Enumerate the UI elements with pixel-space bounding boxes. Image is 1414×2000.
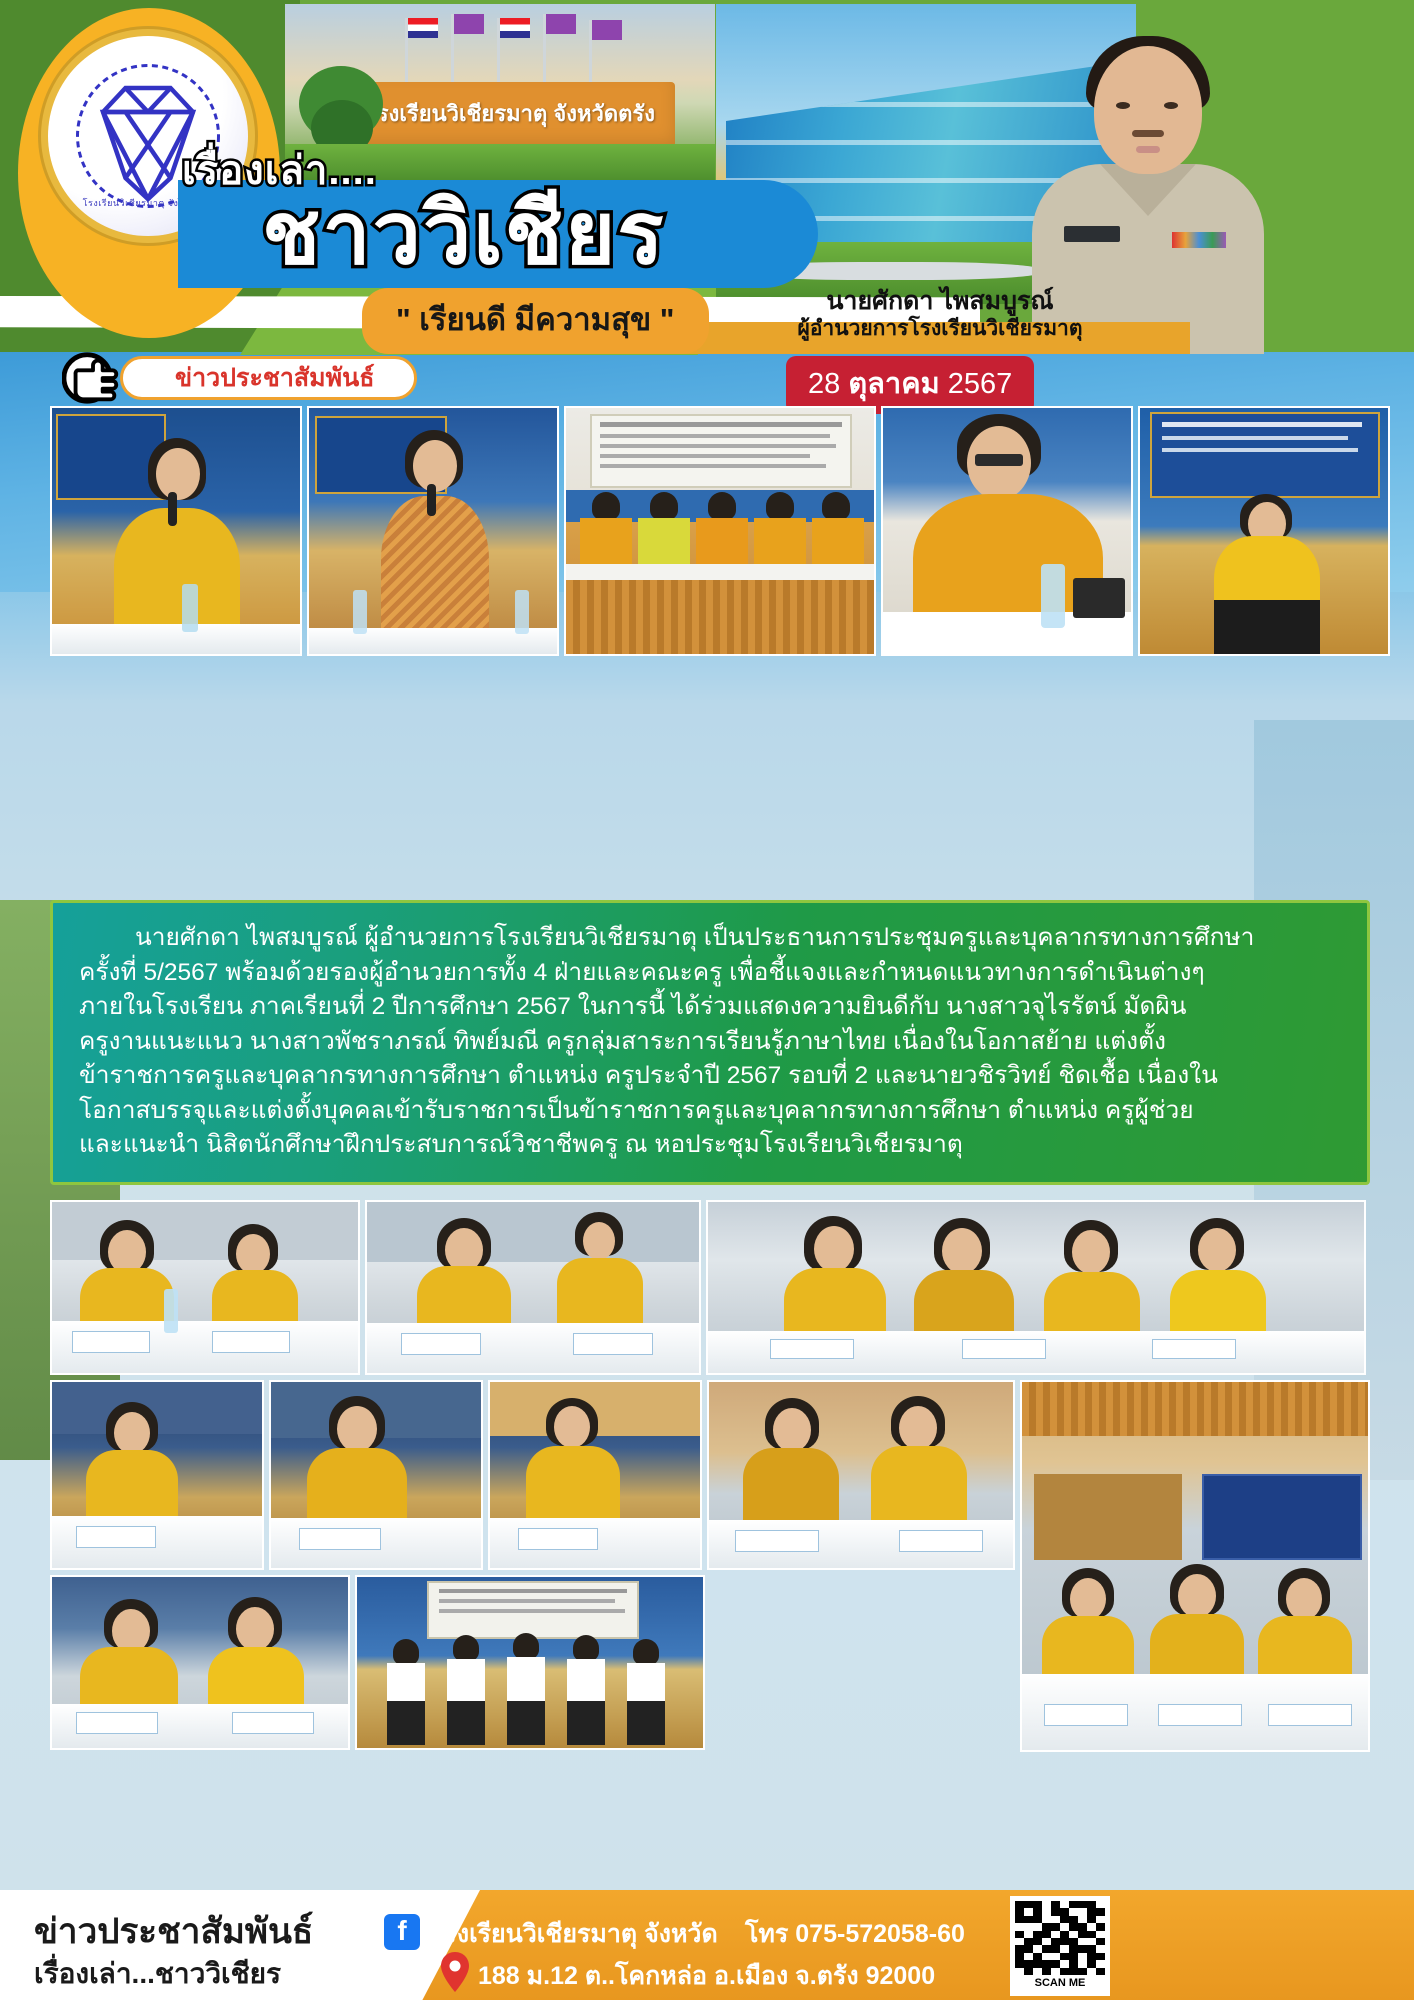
- photo-teachers-seated-5[interactable]: [269, 1380, 483, 1570]
- photo-teachers-seated-2[interactable]: [365, 1200, 701, 1375]
- footer-title: ข่าวประชาสัมพันธ์: [34, 1904, 313, 1959]
- photo-speaker-woman-2[interactable]: [307, 406, 559, 656]
- body-line-3: ภายในโรงเรียน ภาคเรียนที่ 2 ปีการศึกษา 2…: [79, 990, 1341, 1025]
- announcement-row: ข่าวประชาสัมพันธ์ 28 ตุลาคม 2567: [0, 352, 1414, 404]
- footer-phone: โทร 075-572058-60: [745, 1914, 965, 1954]
- news-body-text: นายศักดา ไพสมบูรณ์ ผู้อำนวยการโรงเรียนวิ…: [50, 900, 1370, 1185]
- gallery-row-mid-1: [50, 1200, 1366, 1375]
- photo-teacher-microphone[interactable]: [1138, 406, 1390, 656]
- announcement-label: ข่าวประชาสัมพันธ์: [175, 358, 374, 398]
- date-month: ตุลาคม: [848, 368, 939, 400]
- body-line-2: ครั้งที่ 5/2567 พร้อมด้วยรองผู้อำนวยการท…: [79, 956, 1341, 991]
- qr-code-pattern: [1015, 1901, 1105, 1975]
- location-pin-icon: [440, 1952, 470, 1992]
- photo-teachers-seated-4[interactable]: [50, 1380, 264, 1570]
- gallery-row-top: [50, 406, 1390, 656]
- title-main-heading: ชาววิเชียร: [262, 186, 666, 282]
- director-ribbon-bar: [1172, 232, 1226, 248]
- photo-student-teachers-group[interactable]: [355, 1575, 705, 1750]
- footer-subtitle: เรื่องเล่า...ชาววิเชียร: [34, 1952, 281, 1996]
- body-line-6: โอกาสบรรจุและแต่งตั้งบุคคลเข้ารับราชการเ…: [79, 1094, 1341, 1129]
- pointing-hand-icon: [62, 352, 124, 404]
- body-line-1: นายศักดา ไพสมบูรณ์ ผู้อำนวยการโรงเรียนวิ…: [79, 921, 1341, 956]
- school-sign-wall: โรงเรียนวิเชียรมาตุ จังหวัดตรัง: [345, 82, 675, 150]
- photo-audience-hall[interactable]: [1020, 1380, 1370, 1752]
- footer-address: 188 ม.12 ต..โคกหล่อ อ.เมือง จ.ตรัง 92000: [478, 1956, 935, 1996]
- photo-teachers-seated-8[interactable]: [50, 1575, 350, 1750]
- poster-root: โรงเรียนวิเชียรมาตุ จังหวัดตรัง: [0, 0, 1414, 2000]
- photo-teachers-seated-1[interactable]: [50, 1200, 360, 1375]
- poster-footer: ข่าวประชาสัมพันธ์ เรื่องเล่า...ชาววิเชีย…: [0, 1890, 1414, 2000]
- photo-teachers-seated-7[interactable]: [707, 1380, 1015, 1570]
- gallery-row-mid-3: [50, 1575, 705, 1750]
- announcement-pill: ข่าวประชาสัมพันธ์: [120, 356, 417, 400]
- photo-head-table-panel[interactable]: [564, 406, 876, 656]
- director-face: [1094, 46, 1202, 174]
- qr-code[interactable]: SCAN ME: [1010, 1896, 1110, 1996]
- director-nametag: [1064, 226, 1120, 242]
- photo-director-speaking[interactable]: [881, 406, 1133, 656]
- body-line-4: ครูงานแนะแนว นางสาวพัชราภรณ์ ทิพย์มณี คร…: [79, 1025, 1341, 1060]
- facebook-icon[interactable]: f: [384, 1914, 420, 1950]
- poster-header: โรงเรียนวิเชียรมาตุ จังหวัดตรัง: [0, 0, 1414, 352]
- qr-label: SCAN ME: [1015, 1977, 1105, 1989]
- director-role: ผู้อำนวยการโรงเรียนวิเชียรมาตุ: [760, 316, 1120, 342]
- director-name: นายศักดา ไพสมบูรณ์: [790, 286, 1090, 316]
- body-line-5: ข้าราชการครูและบุคลากรทางการศึกษา ตำแหน่…: [79, 1059, 1341, 1094]
- school-sign-text: โรงเรียนวิเชียรมาตุ จังหวัดตรัง: [345, 96, 675, 131]
- footer-facebook-page[interactable]: โรงเรียนวิเชียรมาตุ จังหวัด: [430, 1914, 718, 1954]
- photo-teachers-seated-3[interactable]: [706, 1200, 1366, 1375]
- date-year: 2567: [948, 368, 1013, 400]
- body-line-7: และแนะนำ นิสิตนักศึกษาฝึกประสบการณ์วิชาช…: [79, 1128, 1341, 1163]
- photo-teachers-seated-6[interactable]: [488, 1380, 702, 1570]
- photo-speaker-woman-1[interactable]: [50, 406, 302, 656]
- date-day: 28: [808, 368, 840, 400]
- motto-pill: " เรียนดี มีความสุข ": [362, 288, 709, 354]
